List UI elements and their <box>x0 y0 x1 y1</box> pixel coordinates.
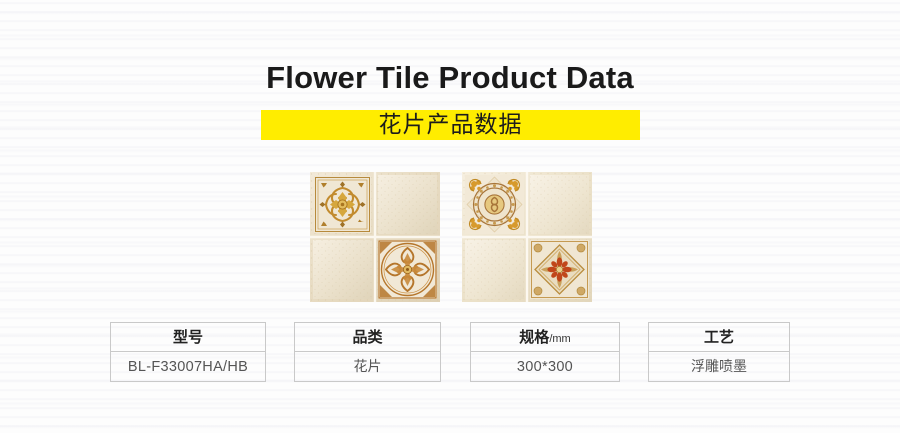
spec-cell-category: 品类 花片 <box>294 322 441 382</box>
pattern-circular-medallion <box>378 240 437 299</box>
pattern-plain-tr <box>378 175 437 234</box>
spec-value-model: BL-F33007HA/HB <box>111 352 265 382</box>
product-data-page: Flower Tile Product Data 花片产品数据 <box>0 0 900 433</box>
spec-header-category: 品类 <box>295 323 440 352</box>
tile-sample-right[interactable] <box>462 172 592 302</box>
tile-left-graphic <box>310 172 440 302</box>
spec-header-process: 工艺 <box>649 323 789 352</box>
page-title-english: Flower Tile Product Data <box>0 59 900 97</box>
spec-header-size: 规格/mm <box>471 323 619 352</box>
tile-right-graphic <box>462 172 592 302</box>
spec-header-unit-size: /mm <box>549 333 570 345</box>
spec-cell-size: 规格/mm 300*300 <box>470 322 620 382</box>
pattern-diamond-rosette <box>530 240 589 299</box>
pattern-plain-bl <box>313 240 372 299</box>
spec-value-process: 浮雕喷墨 <box>649 352 789 382</box>
spec-value-category: 花片 <box>295 352 440 382</box>
tile-sample-left[interactable] <box>310 172 440 302</box>
spec-cell-model: 型号 BL-F33007HA/HB <box>110 322 266 382</box>
page-title-chinese: 花片产品数据 <box>261 110 640 140</box>
pattern-ornate-square <box>314 176 371 233</box>
pattern-plain-tr <box>530 175 589 234</box>
pattern-plain-bl <box>465 240 524 299</box>
spec-value-size: 300*300 <box>471 352 619 382</box>
spec-header-model: 型号 <box>111 323 265 352</box>
pattern-circle-floral <box>465 175 524 234</box>
spec-cell-process: 工艺 浮雕喷墨 <box>648 322 790 382</box>
